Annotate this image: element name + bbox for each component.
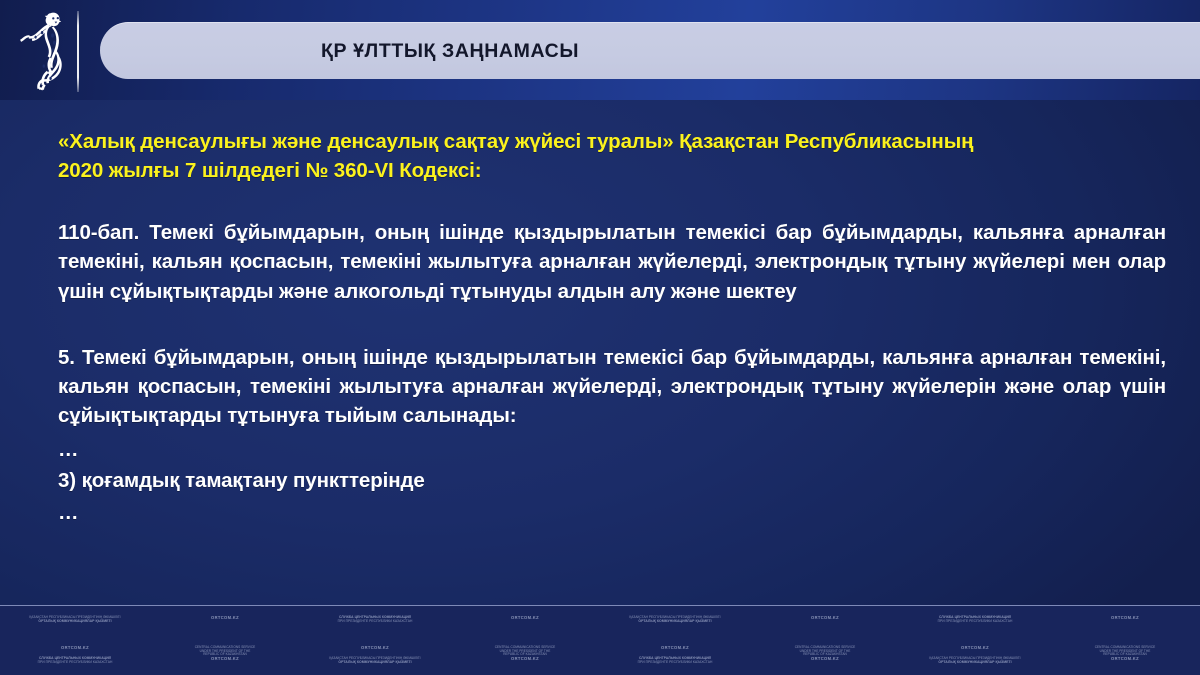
watermark-text: CENTRAL COMMUNICATIONS SERVICEUNDER THE … bbox=[158, 646, 292, 657]
watermark-text: СЛУЖБА ЦЕНТРАЛЬНЫХ КОММУНИКАЦИЙПРИ ПРЕЗИ… bbox=[608, 657, 742, 664]
article-110-paragraph: 110-бап. Темекі бұйымдарын, оның ішінде … bbox=[58, 218, 1166, 305]
slide-header: ҚР ҰЛТТЫҚ ЗАҢНАМАСЫ bbox=[0, 0, 1200, 100]
footer-watermark-strip: ҚАЗАҚСТАН РЕСПУБЛИКАСЫ ПРЕЗИДЕНТІНІҢ ӘКІ… bbox=[0, 605, 1200, 675]
watermark-text: ORTCOM.KZ bbox=[908, 646, 1042, 651]
snow-leopard-emblem-icon bbox=[12, 8, 70, 94]
watermark-text: ORTCOM.KZ bbox=[308, 646, 442, 651]
watermark-tile: ORTCOM.KZCENTRAL COMMUNICATIONS SERVICEU… bbox=[1050, 606, 1200, 675]
watermark-text: ҚАЗАҚСТАН РЕСПУБЛИКАСЫ ПРЕЗИДЕНТІНІҢ ӘКІ… bbox=[8, 616, 142, 623]
watermark-text: ORTCOM.KZ bbox=[158, 657, 292, 662]
header-title-bar: ҚР ҰЛТТЫҚ ЗАҢНАМАСЫ bbox=[100, 22, 1200, 79]
watermark-grid: ҚАЗАҚСТАН РЕСПУБЛИКАСЫ ПРЕЗИДЕНТІНІҢ ӘКІ… bbox=[0, 606, 1200, 675]
list-item-3: 3) қоғамдық тамақтану пункттерінде bbox=[58, 467, 1166, 495]
watermark-text: ORTCOM.KZ bbox=[758, 657, 892, 662]
watermark-tile: СЛУЖБА ЦЕНТРАЛЬНЫХ КОММУНИКАЦИЙПРИ ПРЕЗИ… bbox=[900, 606, 1050, 675]
watermark-tile: ORTCOM.KZCENTRAL COMMUNICATIONS SERVICEU… bbox=[150, 606, 300, 675]
watermark-text: ҚАЗАҚСТАН РЕСПУБЛИКАСЫ ПРЕЗИДЕНТІНІҢ ӘКІ… bbox=[308, 657, 442, 664]
watermark-text: ORTCOM.KZ bbox=[608, 646, 742, 651]
page-title: ҚР ҰЛТТЫҚ ЗАҢНАМАСЫ bbox=[321, 40, 579, 63]
watermark-text: СЛУЖБА ЦЕНТРАЛЬНЫХ КОММУНИКАЦИЙПРИ ПРЕЗИ… bbox=[308, 616, 442, 623]
watermark-text: CENTRAL COMMUNICATIONS SERVICEUNDER THE … bbox=[458, 646, 592, 657]
watermark-text: СЛУЖБА ЦЕНТРАЛЬНЫХ КОММУНИКАЦИЙПРИ ПРЕЗИ… bbox=[908, 616, 1042, 623]
watermark-text: CENTRAL COMMUNICATIONS SERVICEUNDER THE … bbox=[1058, 646, 1192, 657]
watermark-text: ORTCOM.KZ bbox=[1058, 657, 1192, 662]
ellipsis-second: … bbox=[58, 499, 1166, 527]
watermark-text: ORTCOM.KZ bbox=[1058, 616, 1192, 621]
watermark-text: CENTRAL COMMUNICATIONS SERVICEUNDER THE … bbox=[758, 646, 892, 657]
watermark-text: ORTCOM.KZ bbox=[458, 657, 592, 662]
slide-body: «Халық денсаулығы және денсаулық сақтау … bbox=[0, 100, 1200, 605]
watermark-text: ҚАЗАҚСТАН РЕСПУБЛИКАСЫ ПРЕЗИДЕНТІНІҢ ӘКІ… bbox=[608, 616, 742, 623]
watermark-text: ORTCOM.KZ bbox=[758, 616, 892, 621]
watermark-tile: ҚАЗАҚСТАН РЕСПУБЛИКАСЫ ПРЕЗИДЕНТІНІҢ ӘКІ… bbox=[0, 606, 150, 675]
law-reference-heading: «Халық денсаулығы және денсаулық сақтау … bbox=[58, 128, 988, 185]
clause-5-paragraph: 5. Темекі бұйымдарын, оның ішінде қыздыр… bbox=[58, 343, 1166, 430]
watermark-text: ҚАЗАҚСТАН РЕСПУБЛИКАСЫ ПРЕЗИДЕНТІНІҢ ӘКІ… bbox=[908, 657, 1042, 664]
slide-root: ҚР ҰЛТТЫҚ ЗАҢНАМАСЫ «Халық денсаулығы жә… bbox=[0, 0, 1200, 675]
watermark-text: ORTCOM.KZ bbox=[158, 616, 292, 621]
ellipsis-first: … bbox=[58, 436, 1166, 464]
watermark-text: ORTCOM.KZ bbox=[8, 646, 142, 651]
watermark-text: СЛУЖБА ЦЕНТРАЛЬНЫХ КОММУНИКАЦИЙПРИ ПРЕЗИ… bbox=[8, 657, 142, 664]
header-divider bbox=[77, 11, 79, 92]
watermark-tile: ҚАЗАҚСТАН РЕСПУБЛИКАСЫ ПРЕЗИДЕНТІНІҢ ӘКІ… bbox=[600, 606, 750, 675]
watermark-tile: ORTCOM.KZCENTRAL COMMUNICATIONS SERVICEU… bbox=[750, 606, 900, 675]
watermark-text: ORTCOM.KZ bbox=[458, 616, 592, 621]
watermark-tile: ORTCOM.KZCENTRAL COMMUNICATIONS SERVICEU… bbox=[450, 606, 600, 675]
watermark-tile: СЛУЖБА ЦЕНТРАЛЬНЫХ КОММУНИКАЦИЙПРИ ПРЕЗИ… bbox=[300, 606, 450, 675]
